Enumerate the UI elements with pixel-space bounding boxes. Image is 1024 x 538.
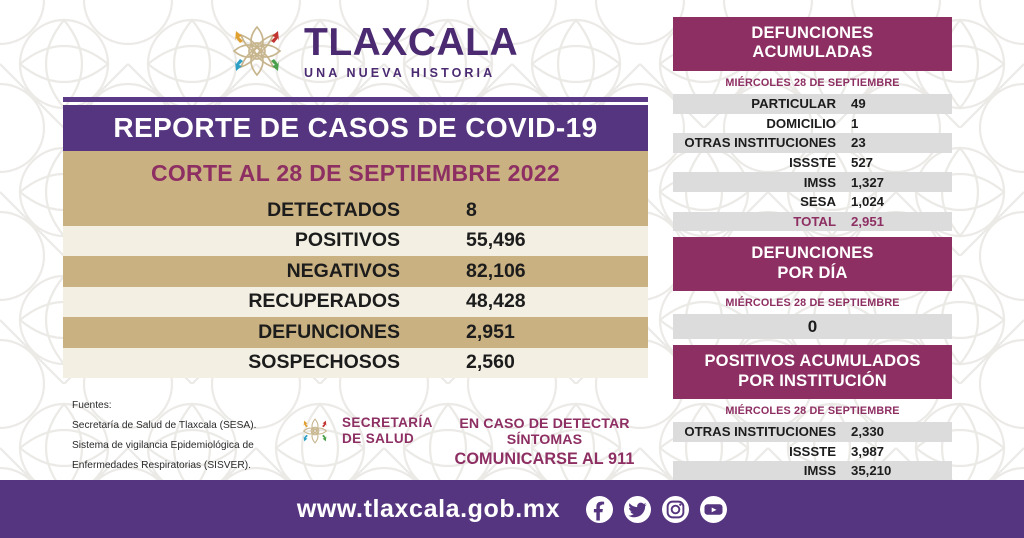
table-row: RECUPERADOS 48,428 [63,287,648,318]
section-header-line-1: POSITIVOS ACUMULADOS [673,352,952,371]
row-value: 1 [845,116,952,131]
row-value: 49 [845,96,952,111]
row-value: 1,327 [845,175,952,190]
covid-stats-table: DETECTADOS 8 POSITIVOS 55,496 NEGATIVOS … [63,195,648,378]
stat-value: 2,951 [418,321,648,344]
table-row: SOSPECHOSOS 2,560 [63,348,648,379]
section-date-defunciones-acumuladas: MIÉRCOLES 28 DE SEPTIEMBRE [673,71,952,94]
footer-bar: www.tlaxcala.gob.mx [0,480,1024,538]
report-date-subtitle: CORTE AL 28 DE SEPTIEMBRE 2022 [151,160,560,187]
salud-line-1: SECRETARÍA [342,415,433,431]
table-row: IMSS 1,327 [673,172,952,192]
row-value: 1,024 [845,194,952,209]
emergency-line-1: EN CASO DE DETECTAR SÍNTOMAS [432,416,657,448]
table-row-total: TOTAL 2,951 [673,212,952,232]
section-header-line-2: ACUMULADAS [673,43,952,62]
emergency-notice: EN CASO DE DETECTAR SÍNTOMAS COMUNICARSE… [432,416,657,469]
facebook-icon[interactable] [586,496,613,523]
row-label: IMSS [673,463,845,478]
row-label: ISSSTE [673,444,845,459]
section-header-line-1: DEFUNCIONES [673,244,952,263]
sources-line-1: Secretaría de Salud de Tlaxcala (SESA). [72,416,312,436]
social-icons-group [586,496,727,523]
row-label: ISSSTE [673,155,845,170]
stat-label: DETECTADOS [63,199,418,222]
row-value: 2,330 [845,424,952,439]
row-label: OTRAS INSTITUCIONES [673,135,845,150]
table-row: ISSSTE 3,987 [673,442,952,462]
table-row: OTRAS INSTITUCIONES 2,330 [673,422,952,442]
row-value: 3,987 [845,444,952,459]
table-row: ISSSTE 527 [673,153,952,173]
row-value: 527 [845,155,952,170]
table-row: PARTICULAR 49 [673,94,952,114]
emergency-line-2: COMUNICARSE AL 911 [432,450,657,469]
table-row: POSITIVOS 55,496 [63,226,648,257]
row-value: 2,951 [845,214,952,229]
table-row: DETECTADOS 8 [63,195,648,226]
sources-line-2: Sistema de vigilancia Epidemiológica de [72,436,312,456]
row-label: IMSS [673,175,845,190]
salud-line-2: DE SALUD [342,431,433,447]
defunciones-acumuladas-table: PARTICULAR 49 DOMICILIO 1 OTRAS INSTITUC… [673,94,952,231]
brand-wordmark: TLAXCALA UNA NUEVA HISTORIA [304,23,518,80]
row-label: PARTICULAR [673,96,845,111]
tlaxcala-brand-header: TLAXCALA UNA NUEVA HISTORIA [222,14,522,88]
right-statistics-column: DEFUNCIONES ACUMULADAS MIÉRCOLES 28 DE S… [673,17,952,520]
stat-label: NEGATIVOS [63,260,418,283]
secretaria-de-salud-wordmark: SECRETARÍA DE SALUD [342,415,433,447]
section-header-line-1: DEFUNCIONES [673,24,952,43]
row-value: 23 [845,135,952,150]
table-row: NEGATIVOS 82,106 [63,256,648,287]
twitter-icon[interactable] [624,496,651,523]
table-row: DOMICILIO 1 [673,114,952,134]
section-date-positivos-por-institucion: MIÉRCOLES 28 DE SEPTIEMBRE [673,399,952,422]
table-row: IMSS 35,210 [673,461,952,481]
title-rule-divider [63,97,648,102]
table-row: DEFUNCIONES 2,951 [63,317,648,348]
row-label: TOTAL [673,214,845,229]
youtube-icon[interactable] [700,496,727,523]
row-label: OTRAS INSTITUCIONES [673,424,845,439]
report-subtitle-bar: CORTE AL 28 DE SEPTIEMBRE 2022 [63,151,648,195]
table-row: SESA 1,024 [673,192,952,212]
section-date-defunciones-por-dia: MIÉRCOLES 28 DE SEPTIEMBRE [673,291,952,314]
report-main-panel: REPORTE DE CASOS DE COVID-19 CORTE AL 28… [63,97,648,378]
stat-label: SOSPECHOSOS [63,351,418,374]
stat-value: 82,106 [418,260,648,283]
report-title-bar: REPORTE DE CASOS DE COVID-19 [63,105,648,151]
secretaria-de-salud-logo-block: SECRETARÍA DE SALUD [296,412,433,450]
stat-value: 55,496 [418,229,648,252]
section-header-positivos-por-institucion: POSITIVOS ACUMULADOS POR INSTITUCIÓN [673,345,952,399]
stat-value: 2,560 [418,351,648,374]
sources-heading: Fuentes: [72,396,312,416]
row-label: DOMICILIO [673,116,845,131]
brand-title: TLAXCALA [304,23,518,62]
secretaria-de-salud-flower-logo [296,412,334,450]
row-value: 35,210 [845,463,952,478]
instagram-icon[interactable] [662,496,689,523]
section-header-line-2: POR INSTITUCIÓN [673,372,952,391]
section-header-defunciones-acumuladas: DEFUNCIONES ACUMULADAS [673,17,952,71]
stat-label: RECUPERADOS [63,290,418,313]
page-title: REPORTE DE CASOS DE COVID-19 [113,112,597,144]
sources-line-3: Enfermedades Respiratorias (SISVER). [72,456,312,476]
row-label: SESA [673,194,845,209]
brand-subtitle: UNA NUEVA HISTORIA [304,67,518,80]
stat-label: POSITIVOS [63,229,418,252]
stat-value: 48,428 [418,290,648,313]
section-header-line-2: POR DÍA [673,264,952,283]
tlaxcala-flower-logo [222,17,292,85]
website-url[interactable]: www.tlaxcala.gob.mx [297,495,560,524]
table-row: OTRAS INSTITUCIONES 23 [673,133,952,153]
section-header-defunciones-por-dia: DEFUNCIONES POR DÍA [673,237,952,291]
stat-value: 8 [418,199,648,222]
defunciones-por-dia-value: 0 [673,314,952,339]
stat-label: DEFUNCIONES [63,321,418,344]
sources-block: Fuentes: Secretaría de Salud de Tlaxcala… [72,396,312,476]
